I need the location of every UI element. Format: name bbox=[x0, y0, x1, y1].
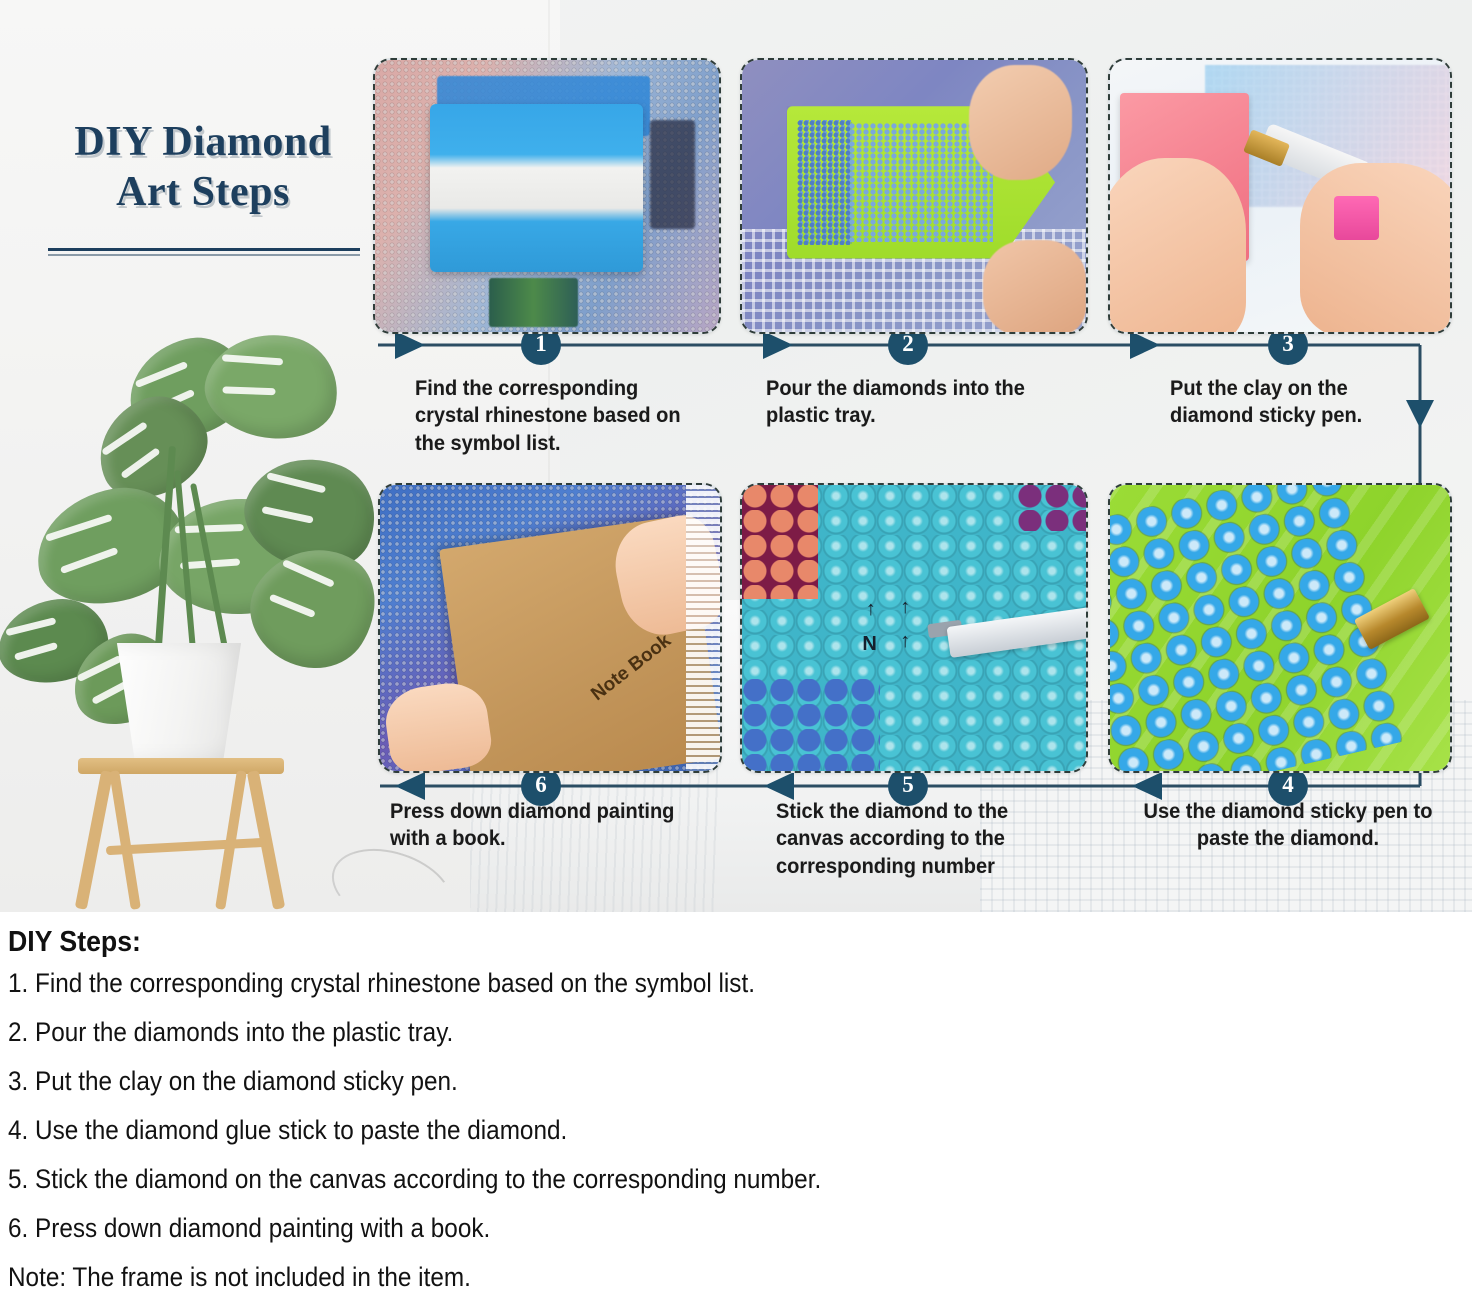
step-5-photo: ↑ ↑ N ↑ bbox=[740, 483, 1088, 773]
step-badge-3: 3 bbox=[1268, 331, 1308, 359]
list-item: 5. Stick the diamond on the canvas accor… bbox=[8, 1166, 1304, 1193]
diy-steps-text-section: DIY Steps: 1. Find the corresponding cry… bbox=[0, 912, 1472, 1300]
packet-label-text bbox=[471, 180, 595, 218]
step-badge-6: 6 bbox=[521, 772, 561, 800]
list-item-note: Note: The frame is not included in the i… bbox=[8, 1264, 1304, 1291]
title-underline bbox=[48, 248, 360, 256]
diy-diamond-art-instruction-page: DIY Diamond Art Steps bbox=[0, 0, 1472, 1300]
diy-steps-list: 1. Find the corresponding crystal rhines… bbox=[8, 970, 1448, 1313]
canvas-symbol-letter-n: N bbox=[862, 634, 876, 654]
canvas-symbol-arrow-3: ↑ bbox=[900, 631, 910, 651]
step-badge-4: 4 bbox=[1268, 772, 1308, 800]
step-badge-2: 2 bbox=[888, 331, 928, 359]
step-5-caption: Stick the diamond to the canvas accordin… bbox=[776, 798, 1046, 880]
step-1-caption: Find the corresponding crystal rhineston… bbox=[415, 375, 685, 457]
list-item: 6. Press down diamond painting with a bo… bbox=[8, 1215, 1304, 1242]
list-item: 2. Pour the diamonds into the plastic tr… bbox=[8, 1019, 1304, 1046]
step-6-caption: Press down diamond painting with a book. bbox=[390, 798, 706, 853]
step-2-photo bbox=[740, 58, 1088, 334]
step-3-photo bbox=[1108, 58, 1452, 334]
page-title: DIY Diamond Art Steps bbox=[38, 118, 368, 217]
list-item: 4. Use the diamond glue stick to paste t… bbox=[8, 1117, 1304, 1144]
monstera-plant-photo bbox=[10, 350, 360, 910]
infographic-panel: DIY Diamond Art Steps bbox=[0, 0, 1472, 912]
page-title-line-2: Art Steps bbox=[38, 168, 368, 218]
step-4-caption: Use the diamond sticky pen to paste the … bbox=[1139, 798, 1437, 853]
step-1-photo bbox=[373, 58, 721, 334]
canvas-symbol-arrow-2: ↑ bbox=[900, 597, 910, 617]
step-6-photo: Note Book bbox=[378, 483, 722, 773]
step-badge-5: 5 bbox=[888, 772, 928, 800]
list-item: 3. Put the clay on the diamond sticky pe… bbox=[8, 1068, 1304, 1095]
diy-steps-title: DIY Steps: bbox=[8, 926, 141, 959]
canvas-symbol-arrow-1: ↑ bbox=[866, 599, 876, 619]
white-plant-pot bbox=[110, 643, 248, 761]
step-badge-1: 1 bbox=[521, 331, 561, 359]
step-3-caption: Put the clay on the diamond sticky pen. bbox=[1170, 375, 1421, 430]
page-title-line-1: DIY Diamond bbox=[38, 118, 368, 168]
step-2-caption: Pour the diamonds into the plastic tray. bbox=[766, 375, 1064, 430]
step-4-photo bbox=[1108, 483, 1452, 773]
list-item: 1. Find the corresponding crystal rhines… bbox=[8, 970, 1304, 997]
